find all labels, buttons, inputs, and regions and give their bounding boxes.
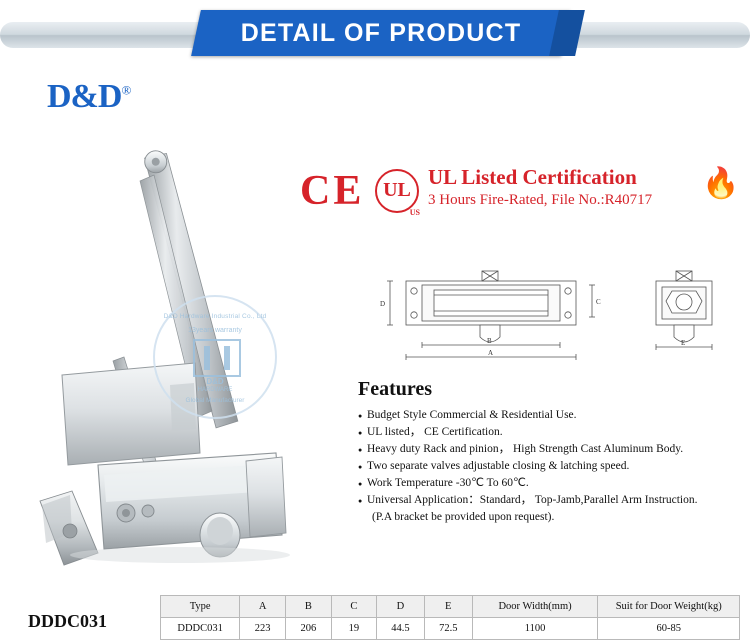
model-label: DDDC031 [28, 611, 107, 632]
features-list: Budget Style Commercial & Residential Us… [358, 407, 750, 526]
watermark-warranty: 13years warranty [155, 327, 275, 334]
table-header-cell: Door Width(mm) [472, 596, 598, 618]
watermark-company-name: D&D Hardware Industrial Co., Ltd [155, 313, 275, 320]
watermark-sub: HARDWARE [155, 387, 275, 393]
ul-mark-region: US [410, 209, 420, 217]
brand-logo-text: D&D [47, 78, 121, 115]
feature-item: Two separate valves adjustable closing &… [358, 458, 750, 475]
feature-item: Work Temperature -30℃ To 60℃. [358, 475, 750, 492]
ul-mark-icon: UL US [375, 169, 419, 213]
feature-item: Budget Style Commercial & Residential Us… [358, 407, 750, 424]
feature-item: Universal Application：Standard， Top-Jamb… [358, 492, 750, 509]
svg-text:D: D [380, 300, 385, 308]
table-cell: 44.5 [376, 618, 424, 640]
table-header-cell: A [240, 596, 286, 618]
brand-logo: D&D® [47, 78, 130, 116]
table-cell: 60-85 [598, 618, 740, 640]
certification-block: CE UL US UL Listed Certification 3 Hours… [300, 165, 740, 220]
feature-item: UL listed， CE Certification. [358, 424, 750, 441]
ul-mark-text: UL [383, 179, 411, 201]
svg-text:B: B [487, 337, 492, 345]
table-row: DDDC031 223 206 19 44.5 72.5 1100 60-85 [161, 618, 740, 640]
table-header-cell: Suit for Door Weight(kg) [598, 596, 740, 618]
page-title: DETAIL OF PRODUCT [196, 10, 566, 56]
feature-item-continuation: (P.A bracket be provided upon request). [358, 509, 750, 526]
table-cell: 1100 [472, 618, 598, 640]
table-header-row: Type A B C D E Door Width(mm) Suit for D… [161, 596, 740, 618]
ce-mark-icon: CE [300, 167, 364, 215]
table-header-cell: C [331, 596, 376, 618]
svg-text:A: A [488, 349, 493, 357]
watermark-dd-icon [193, 339, 241, 377]
specification-table: Type A B C D E Door Width(mm) Suit for D… [160, 595, 740, 640]
table-header-cell: D [376, 596, 424, 618]
table-cell: 223 [240, 618, 286, 640]
header-banner: DETAIL OF PRODUCT [0, 0, 750, 70]
table-cell: 19 [331, 618, 376, 640]
dimension-diagram: D C B A [360, 255, 745, 370]
svg-text:C: C [596, 298, 601, 306]
certification-title: UL Listed Certification [428, 165, 637, 190]
table-cell: 206 [286, 618, 332, 640]
table-header-cell: E [424, 596, 472, 618]
registered-mark-icon: ® [121, 83, 130, 98]
table-header-cell: B [286, 596, 332, 618]
watermark-brand: D&D [155, 377, 275, 386]
features-heading: Features [358, 378, 750, 401]
features-section: Features Budget Style Commercial & Resid… [358, 378, 750, 526]
feature-item: Heavy duty Rack and pinion， High Strengt… [358, 441, 750, 458]
certification-subtitle: 3 Hours Fire-Rated, File No.:R40717 [428, 192, 652, 209]
svg-text:E: E [681, 339, 685, 347]
watermark-tagline: Global Manufacturer [155, 397, 275, 404]
table-header-cell: Type [161, 596, 240, 618]
flame-icon: 🔥 [702, 169, 739, 199]
table-cell: 72.5 [424, 618, 472, 640]
technical-drawings: D C B A [360, 255, 745, 370]
table-cell: DDDC031 [161, 618, 240, 640]
company-watermark: D&D Hardware Industrial Co., Ltd 13years… [153, 295, 277, 419]
